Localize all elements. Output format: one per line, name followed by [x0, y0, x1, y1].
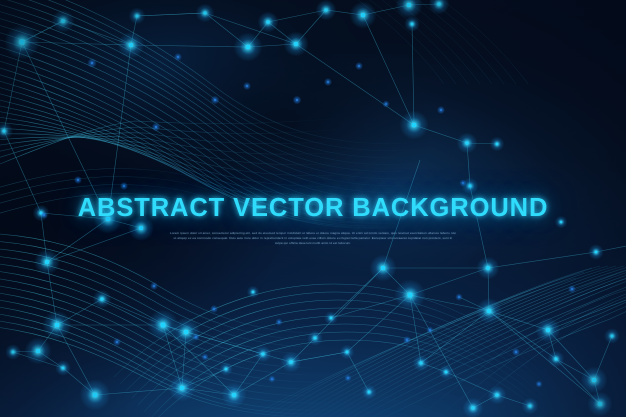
node-core — [529, 405, 531, 407]
node-core — [327, 81, 329, 83]
node-core — [123, 185, 125, 187]
node-core — [296, 99, 298, 101]
text-block: ABSTRACT VECTOR BACKGROUND Lorem ipsum d… — [0, 196, 626, 246]
node-core — [411, 23, 413, 25]
node-core — [204, 356, 205, 357]
node-core — [487, 309, 491, 313]
node-core — [471, 406, 474, 409]
node-core — [445, 371, 447, 373]
node-core — [465, 141, 468, 144]
node-core — [496, 143, 498, 145]
node-core — [271, 378, 272, 379]
node-core — [101, 298, 104, 301]
node-core — [546, 328, 550, 332]
node-core — [538, 383, 539, 384]
node-core — [289, 360, 292, 363]
node-core — [462, 182, 463, 183]
node-core — [3, 130, 6, 133]
node-core — [515, 351, 517, 353]
node-glow — [395, 0, 422, 19]
node-core — [330, 317, 332, 319]
page-title: ABSTRACT VECTOR BACKGROUND — [0, 196, 626, 222]
node-core — [458, 296, 459, 297]
node-core — [598, 402, 602, 406]
node-core — [469, 185, 471, 187]
node-core — [571, 288, 573, 290]
node-core — [324, 8, 327, 11]
node-core — [429, 329, 430, 330]
node-core — [91, 62, 93, 64]
node-core — [611, 335, 613, 337]
node-core — [246, 45, 250, 49]
node-core — [408, 293, 413, 298]
node-core — [486, 266, 489, 269]
node-core — [252, 291, 254, 293]
node-core — [266, 20, 269, 23]
node-core — [12, 351, 14, 353]
node-core — [412, 123, 416, 127]
node-core — [347, 377, 348, 378]
node-core — [420, 362, 422, 364]
node-core — [385, 103, 386, 104]
node-core — [55, 323, 59, 327]
node-core — [36, 349, 40, 353]
node-core — [314, 337, 316, 339]
node-core — [361, 13, 365, 17]
node-core — [177, 56, 179, 58]
node-core — [195, 336, 196, 337]
node-core — [406, 339, 408, 341]
node-core — [184, 330, 188, 334]
node-core — [437, 2, 440, 5]
node-core — [278, 321, 279, 322]
node-core — [496, 394, 499, 397]
node-core — [225, 368, 227, 370]
node-core — [555, 358, 557, 360]
node-core — [407, 3, 411, 7]
node-glow — [429, 0, 450, 14]
node-core — [213, 308, 215, 310]
node-core — [180, 386, 184, 390]
node-core — [161, 323, 166, 328]
node-core — [153, 285, 155, 287]
node-core — [368, 391, 370, 393]
node-core — [262, 353, 264, 355]
node-core — [19, 39, 24, 44]
node-core — [440, 109, 442, 111]
node-core — [77, 179, 79, 181]
node-core — [246, 85, 248, 87]
node-core — [214, 99, 216, 101]
node-core — [346, 351, 348, 353]
node-core — [155, 126, 157, 128]
node-core — [129, 43, 133, 47]
node-core — [595, 251, 597, 253]
node-core — [294, 42, 298, 46]
node-core — [93, 393, 98, 398]
node-core — [232, 393, 236, 397]
node-core — [136, 15, 138, 17]
node-core — [116, 341, 118, 343]
node-glow — [0, 122, 13, 140]
page-subtitle: Lorem ipsum dolor sit amet, consectetur … — [170, 231, 456, 247]
node-core — [61, 19, 64, 22]
node-core — [358, 65, 360, 67]
abstract-background-graphic: ABSTRACT VECTOR BACKGROUND Lorem ipsum d… — [0, 0, 626, 417]
node-core — [45, 260, 49, 264]
node-core — [204, 12, 207, 15]
node-core — [62, 367, 64, 369]
node-core — [381, 266, 385, 270]
node-core — [592, 378, 596, 382]
